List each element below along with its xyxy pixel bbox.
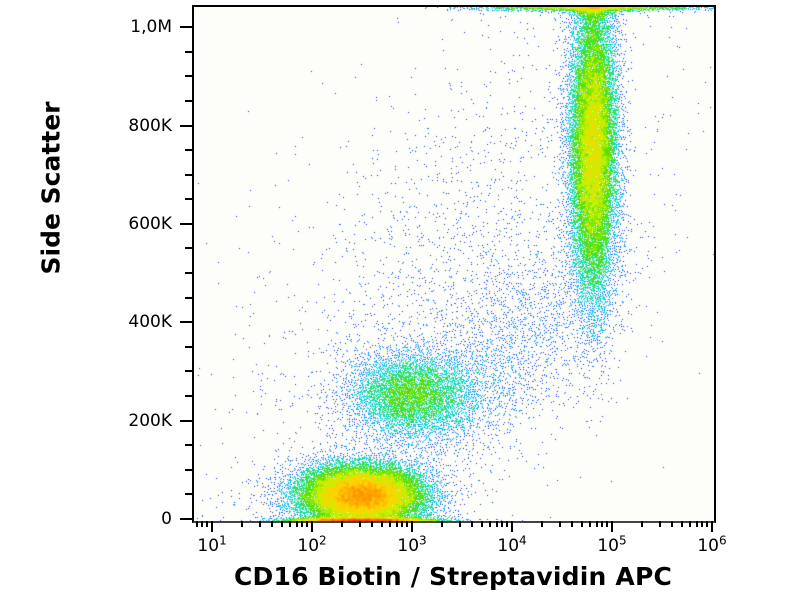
scatter-plot-area bbox=[192, 5, 716, 523]
x-tick-minor bbox=[489, 521, 491, 527]
x-tick-minor bbox=[406, 521, 408, 527]
y-tick-major bbox=[180, 420, 192, 422]
x-tick-minor bbox=[381, 521, 383, 527]
x-tick-minor bbox=[541, 521, 543, 527]
x-tick-minor bbox=[706, 521, 708, 527]
x-tick-minor bbox=[401, 521, 403, 527]
x-tick-minor bbox=[701, 521, 703, 527]
x-tick-minor bbox=[459, 521, 461, 527]
y-tick-major bbox=[180, 321, 192, 323]
flow-cytometry-figure: 0200K400K600K800K1,0M 101102103104105106… bbox=[0, 0, 800, 600]
x-tick-minor bbox=[359, 521, 361, 527]
y-tick-minor bbox=[185, 395, 192, 397]
y-tick-minor bbox=[185, 198, 192, 200]
x-tick-minor bbox=[259, 521, 261, 527]
y-tick-label: 1,0M bbox=[110, 17, 172, 37]
x-tick-minor bbox=[296, 521, 298, 527]
y-tick-minor bbox=[185, 493, 192, 495]
y-tick-major bbox=[180, 518, 192, 520]
y-tick-major bbox=[180, 223, 192, 225]
y-tick-minor bbox=[185, 75, 192, 77]
y-tick-label: 0 bbox=[110, 509, 172, 529]
y-tick-minor bbox=[185, 247, 192, 249]
y-tick-minor bbox=[185, 149, 192, 151]
y-tick-minor bbox=[185, 444, 192, 446]
x-tick-minor bbox=[206, 521, 208, 527]
x-tick-minor bbox=[681, 521, 683, 527]
x-tick-label: 104 bbox=[497, 536, 526, 556]
x-tick-label: 106 bbox=[697, 536, 726, 556]
x-tick-major bbox=[511, 521, 513, 532]
x-tick-minor bbox=[659, 521, 661, 527]
y-tick-label: 800K bbox=[110, 116, 172, 136]
x-tick-minor bbox=[671, 521, 673, 527]
x-tick-minor bbox=[481, 521, 483, 527]
x-tick-minor bbox=[501, 521, 503, 527]
x-tick-major bbox=[211, 521, 213, 532]
y-tick-minor bbox=[185, 174, 192, 176]
x-tick-minor bbox=[371, 521, 373, 527]
x-tick-minor bbox=[196, 521, 198, 527]
y-tick-minor bbox=[185, 100, 192, 102]
x-tick-minor bbox=[389, 521, 391, 527]
x-tick-minor bbox=[571, 521, 573, 527]
x-tick-minor bbox=[496, 521, 498, 527]
x-tick-minor bbox=[589, 521, 591, 527]
x-tick-minor bbox=[271, 521, 273, 527]
x-tick-minor bbox=[471, 521, 473, 527]
y-tick-major bbox=[180, 26, 192, 28]
x-tick-minor bbox=[241, 521, 243, 527]
x-tick-minor bbox=[306, 521, 308, 527]
y-tick-label: 400K bbox=[110, 312, 172, 332]
x-tick-label: 102 bbox=[297, 536, 326, 556]
x-tick-label: 103 bbox=[397, 536, 426, 556]
x-tick-minor bbox=[301, 521, 303, 527]
y-tick-minor bbox=[185, 346, 192, 348]
x-tick-minor bbox=[696, 521, 698, 527]
x-axis-title: CD16 Biotin / Streptavidin APC bbox=[192, 562, 714, 591]
x-tick-major bbox=[711, 521, 713, 532]
y-tick-minor bbox=[185, 51, 192, 53]
x-tick-major bbox=[311, 521, 313, 532]
x-tick-minor bbox=[601, 521, 603, 527]
density-scatter-canvas bbox=[194, 7, 714, 521]
x-tick-major bbox=[611, 521, 613, 532]
x-tick-minor bbox=[289, 521, 291, 527]
x-tick-label: 105 bbox=[597, 536, 626, 556]
x-tick-minor bbox=[689, 521, 691, 527]
y-tick-minor bbox=[185, 297, 192, 299]
y-tick-minor bbox=[185, 370, 192, 372]
y-tick-minor bbox=[185, 469, 192, 471]
x-tick-minor bbox=[396, 521, 398, 527]
x-tick-minor bbox=[506, 521, 508, 527]
x-tick-minor bbox=[281, 521, 283, 527]
x-tick-major bbox=[411, 521, 413, 532]
x-tick-minor bbox=[559, 521, 561, 527]
x-tick-minor bbox=[641, 521, 643, 527]
x-tick-minor bbox=[606, 521, 608, 527]
x-tick-minor bbox=[441, 521, 443, 527]
x-tick-minor bbox=[201, 521, 203, 527]
y-tick-label: 600K bbox=[110, 214, 172, 234]
y-tick-major bbox=[180, 125, 192, 127]
x-tick-minor bbox=[596, 521, 598, 527]
y-tick-minor bbox=[185, 272, 192, 274]
x-tick-minor bbox=[341, 521, 343, 527]
x-tick-minor bbox=[581, 521, 583, 527]
x-tick-label: 101 bbox=[197, 536, 226, 556]
y-tick-label: 200K bbox=[110, 411, 172, 431]
y-axis-title: Side Scatter bbox=[37, 115, 66, 275]
